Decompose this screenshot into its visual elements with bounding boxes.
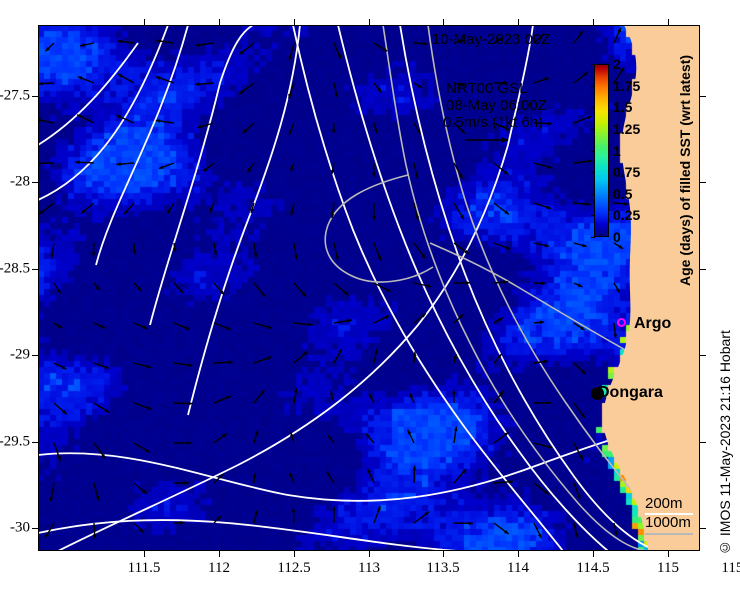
current-vector-arrow bbox=[334, 349, 342, 363]
current-vector-arrow bbox=[454, 243, 469, 254]
current-vector-arrow bbox=[250, 203, 254, 213]
y-axis-label: -28.5 bbox=[0, 261, 30, 278]
product-name: NRT00 GSL bbox=[446, 80, 527, 97]
colorbar-tick bbox=[591, 237, 595, 238]
x-axis-tick-top bbox=[443, 19, 444, 25]
current-vector-arrow bbox=[214, 396, 231, 403]
current-vector-arrow bbox=[174, 363, 192, 367]
colorbar-tick bbox=[591, 215, 595, 216]
current-vector-arrow bbox=[454, 427, 458, 443]
current-vector-arrow bbox=[124, 203, 134, 214]
current-vector-arrow bbox=[116, 162, 134, 166]
current-vector-arrow bbox=[574, 363, 586, 374]
current-vector-arrow bbox=[94, 483, 99, 500]
current-vector-arrow bbox=[156, 39, 174, 43]
current-vector-arrow bbox=[574, 483, 580, 500]
current-vector-arrow bbox=[174, 283, 183, 293]
current-vector-arrow bbox=[54, 283, 61, 293]
y-axis-tick bbox=[32, 182, 38, 183]
current-vector-arrow bbox=[614, 523, 618, 536]
current-vector-arrow bbox=[494, 243, 510, 249]
current-vector-arrow bbox=[332, 123, 336, 134]
current-vector-arrow bbox=[454, 163, 463, 179]
current-vector-arrow bbox=[38, 162, 54, 166]
current-vector-arrow bbox=[453, 354, 457, 363]
current-vector-arrow bbox=[410, 393, 414, 403]
current-vector-arrow bbox=[134, 523, 144, 532]
current-vector-arrow bbox=[494, 523, 509, 534]
current-vector-arrow bbox=[574, 403, 585, 418]
current-vector-arrow bbox=[289, 43, 295, 61]
current-vector-arrow bbox=[494, 280, 508, 284]
current-vector-arrow bbox=[134, 323, 148, 329]
current-vector-arrow bbox=[372, 203, 376, 220]
x-axis-tick bbox=[668, 551, 669, 557]
current-vector-arrow bbox=[330, 391, 334, 403]
current-vector-arrow bbox=[195, 82, 214, 86]
current-vector-arrow bbox=[174, 441, 192, 445]
current-vector-arrow bbox=[290, 473, 294, 483]
argo-marker-icon bbox=[617, 318, 626, 327]
current-vector-arrow bbox=[294, 388, 298, 403]
current-vector-arrow bbox=[374, 243, 381, 261]
depth-200-label: 200m bbox=[645, 494, 691, 513]
depth-1000-label: 1000m bbox=[645, 513, 691, 532]
x-axis-tick bbox=[294, 551, 295, 557]
current-vector-arrow bbox=[574, 283, 582, 287]
x-axis-tick bbox=[144, 551, 145, 557]
current-vector-arrow bbox=[413, 352, 417, 363]
current-vector-arrow bbox=[156, 76, 174, 83]
x-axis-label: 113.5 bbox=[426, 560, 459, 577]
current-vector-arrow bbox=[92, 243, 96, 257]
current-vector-arrow bbox=[494, 203, 509, 215]
current-vector-arrow bbox=[414, 512, 429, 523]
current-vector-arrow bbox=[94, 363, 109, 369]
current-vector-arrow bbox=[39, 203, 54, 214]
colorbar-tick bbox=[591, 172, 595, 173]
current-vector-arrow bbox=[159, 163, 174, 169]
colorbar-tick-label: 1.5 bbox=[613, 99, 632, 115]
current-vector-arrow bbox=[494, 480, 513, 484]
current-vector-arrow bbox=[81, 203, 94, 214]
current-vector-arrow bbox=[39, 82, 55, 86]
current-vector-arrow bbox=[210, 203, 214, 212]
current-vector-arrow bbox=[454, 203, 464, 219]
current-vector-arrow bbox=[414, 123, 420, 134]
current-vector-arrow bbox=[534, 243, 549, 247]
colorbar-tick bbox=[591, 64, 595, 65]
current-vector-arrow bbox=[254, 323, 272, 329]
current-vector-arrow bbox=[253, 474, 257, 484]
current-vector-arrow bbox=[54, 403, 67, 414]
current-vector-arrow bbox=[294, 323, 313, 327]
x-axis-label: 113 bbox=[358, 560, 380, 577]
current-vector-arrow bbox=[574, 116, 592, 123]
current-vector-arrow bbox=[243, 123, 254, 133]
current-vector-arrow bbox=[534, 203, 551, 209]
x-axis-label: 112 bbox=[208, 560, 230, 577]
current-vector-arrow bbox=[408, 430, 414, 443]
y-axis-tick bbox=[32, 355, 38, 356]
y-axis-tick-right bbox=[700, 355, 706, 356]
current-vector-arrow bbox=[574, 72, 588, 83]
x-axis-tick-top bbox=[369, 19, 370, 25]
current-vector-arrow bbox=[290, 432, 294, 443]
current-vector-arrow bbox=[50, 243, 54, 259]
sst-age-map-figure: 10-May-2023 00Z NRT00 GSL 08-May 06:00Z … bbox=[0, 0, 740, 592]
current-vector-arrow bbox=[614, 283, 620, 293]
current-vector-arrow bbox=[374, 283, 391, 292]
current-vector-arrow bbox=[195, 43, 214, 47]
colorbar-tick-label: 2 bbox=[613, 56, 621, 72]
y-axis-label: -29 bbox=[10, 347, 30, 364]
product-time: 08-May 06:00Z bbox=[446, 97, 547, 114]
y-axis-label: -30 bbox=[10, 520, 30, 537]
current-vector-arrow bbox=[117, 115, 134, 123]
current-vector-arrow bbox=[214, 323, 231, 330]
colorbar-tick bbox=[591, 129, 595, 130]
current-vector-arrow bbox=[46, 43, 55, 51]
current-vector-arrow bbox=[334, 43, 341, 59]
current-vector-arrow bbox=[494, 391, 504, 403]
y-axis-tick bbox=[32, 442, 38, 443]
current-vector-arrow bbox=[214, 516, 221, 523]
y-axis-label: -29.5 bbox=[0, 434, 30, 451]
x-axis-tick-top bbox=[593, 19, 594, 25]
x-axis-tick-top bbox=[294, 19, 295, 25]
y-axis-label: -28 bbox=[10, 174, 30, 191]
current-vector-arrow bbox=[331, 203, 335, 218]
current-vector-arrow bbox=[334, 243, 339, 261]
colorbar-tick-label: 0.5 bbox=[613, 186, 632, 202]
current-vector-arrow bbox=[214, 434, 227, 443]
current-vector-arrow bbox=[247, 163, 254, 173]
current-vector-arrow bbox=[534, 163, 552, 169]
x-axis-tick bbox=[219, 551, 220, 557]
current-vector-arrow bbox=[614, 28, 621, 43]
current-vector-arrow bbox=[414, 203, 419, 221]
current-vector-arrow bbox=[334, 319, 352, 323]
current-vector-arrow bbox=[254, 357, 272, 364]
current-vector-arrow bbox=[294, 283, 306, 297]
current-vector-arrow bbox=[368, 469, 374, 483]
current-vector-arrow bbox=[94, 443, 105, 458]
current-vector-arrow bbox=[289, 123, 294, 135]
current-vector-arrow bbox=[413, 466, 417, 483]
current-vector-arrow bbox=[173, 243, 177, 252]
current-vector-arrow bbox=[454, 521, 473, 525]
current-vector-arrow bbox=[254, 390, 265, 403]
copyright-text: © IMOS 11-May-2023 21:16 Hobart bbox=[716, 296, 734, 556]
colorbar-title: Age (days) of filled SST (wrt latest) bbox=[675, 40, 695, 300]
current-vector-arrow bbox=[54, 323, 62, 328]
current-vector-arrow bbox=[198, 123, 215, 128]
current-vector-arrow bbox=[534, 401, 551, 405]
current-vector-arrow bbox=[534, 483, 549, 494]
current-vector-arrow bbox=[214, 360, 233, 364]
colorbar-tick-label: 1.25 bbox=[613, 121, 640, 137]
current-vector-arrow bbox=[534, 321, 544, 325]
current-vector-arrow bbox=[291, 163, 295, 171]
current-vector-arrow bbox=[534, 282, 546, 286]
current-vector-arrow bbox=[372, 163, 376, 177]
current-vector-arrow bbox=[574, 523, 578, 538]
current-vector-arrow bbox=[374, 83, 382, 92]
current-vector-arrow bbox=[414, 83, 422, 88]
current-vector-arrow bbox=[574, 443, 583, 460]
current-vector-arrow bbox=[288, 83, 294, 99]
colorbar-tick bbox=[591, 86, 595, 87]
current-vector-arrow bbox=[254, 283, 265, 297]
current-vector-arrow bbox=[174, 481, 189, 485]
current-vector-arrow bbox=[334, 83, 338, 97]
x-axis-label: 115.5 bbox=[721, 560, 740, 577]
x-axis-label: 114 bbox=[507, 560, 529, 577]
y-axis-tick bbox=[32, 528, 38, 529]
current-vector-arrow bbox=[370, 394, 375, 403]
current-vector-arrow bbox=[327, 472, 334, 483]
current-vector-arrow bbox=[534, 523, 542, 538]
y-axis-tick-right bbox=[700, 182, 706, 183]
x-axis-label: 115 bbox=[657, 560, 679, 577]
current-vector-arrow bbox=[614, 202, 629, 206]
current-vector-arrow bbox=[454, 314, 464, 323]
x-axis-tick bbox=[593, 551, 594, 557]
current-vector-arrow bbox=[75, 160, 94, 164]
current-vector-arrow bbox=[134, 443, 150, 452]
colorbar-tick-label: 1.75 bbox=[613, 78, 640, 94]
current-vector-arrow bbox=[54, 363, 66, 369]
y-axis-tick-right bbox=[700, 442, 706, 443]
current-vector-arrow bbox=[118, 74, 134, 83]
current-vector-arrow bbox=[254, 243, 258, 257]
current-vector-arrow bbox=[118, 40, 134, 44]
current-vector-arrow bbox=[328, 435, 334, 443]
current-vector-arrow bbox=[574, 31, 583, 43]
current-vector-arrow bbox=[294, 243, 298, 259]
current-vector-arrow bbox=[214, 243, 218, 255]
current-vector-arrow bbox=[494, 318, 503, 324]
x-axis-tick bbox=[443, 551, 444, 557]
current-vector-arrow bbox=[174, 521, 185, 525]
current-vector-arrow bbox=[54, 443, 61, 461]
current-vector-arrow bbox=[80, 43, 94, 47]
current-vector-arrow bbox=[534, 77, 549, 83]
current-vector-arrow bbox=[156, 119, 174, 123]
reference-arrow-icon bbox=[463, 133, 513, 147]
current-vector-arrow bbox=[134, 403, 152, 410]
current-vector-arrow bbox=[334, 283, 349, 295]
current-vector-arrow bbox=[574, 159, 592, 163]
current-vector-arrow bbox=[38, 118, 54, 123]
current-vector-arrow bbox=[534, 360, 548, 364]
colorbar-tick bbox=[591, 194, 595, 195]
vector-scale-label: 0.5m/s (1kt 6h) bbox=[443, 114, 543, 131]
current-vector-arrow bbox=[454, 281, 470, 285]
current-vector-arrow bbox=[494, 354, 502, 363]
current-vector-arrow bbox=[613, 323, 617, 338]
colorbar-tick-label: 1 bbox=[613, 143, 621, 159]
current-vector-arrow bbox=[366, 434, 374, 443]
current-vector-arrow bbox=[292, 508, 296, 523]
x-axis-label: 111.5 bbox=[128, 560, 161, 577]
current-vector-arrow bbox=[50, 483, 55, 502]
x-axis-tick-top bbox=[518, 19, 519, 25]
current-vector-arrow bbox=[134, 283, 141, 291]
current-vector-arrow bbox=[414, 314, 426, 324]
colorbar-tick-label: 0.75 bbox=[613, 164, 640, 180]
colorbar-tick bbox=[591, 151, 595, 152]
current-vector-arrow bbox=[203, 163, 214, 172]
current-vector-arrow bbox=[494, 432, 509, 443]
current-vector-arrow bbox=[574, 202, 591, 206]
y-axis-tick-right bbox=[700, 528, 706, 529]
x-axis-tick-top bbox=[219, 19, 220, 25]
current-vector-arrow bbox=[374, 43, 387, 51]
current-vector-arrow bbox=[94, 323, 105, 328]
current-vector-arrow bbox=[574, 243, 587, 247]
current-vector-arrow bbox=[414, 42, 427, 46]
x-axis-tick-top bbox=[144, 19, 145, 25]
x-axis-tick bbox=[518, 551, 519, 557]
current-vector-arrow bbox=[214, 283, 224, 295]
current-vector-arrow bbox=[452, 390, 456, 403]
y-axis-tick-right bbox=[700, 96, 706, 97]
current-vector-arrow bbox=[374, 316, 389, 324]
colorbar-tick-label: 0 bbox=[613, 229, 621, 245]
current-vector-arrow bbox=[133, 243, 137, 254]
current-vector-arrow bbox=[77, 115, 94, 123]
current-vector-arrow bbox=[254, 511, 258, 523]
current-vector-arrow bbox=[374, 349, 378, 363]
y-axis-tick bbox=[32, 269, 38, 270]
current-vector-arrow bbox=[240, 83, 254, 94]
current-vector-arrow bbox=[374, 506, 381, 523]
current-vector-arrow bbox=[494, 163, 509, 175]
x-axis-tick-top bbox=[668, 19, 669, 25]
argo-legend-label: Argo bbox=[634, 315, 671, 333]
current-vector-arrow bbox=[239, 43, 254, 55]
current-vector-arrow bbox=[332, 506, 336, 523]
current-vector-arrow bbox=[294, 352, 308, 363]
current-vector-arrow bbox=[94, 283, 100, 291]
x-axis-tick bbox=[369, 551, 370, 557]
current-vector-arrow bbox=[254, 430, 258, 443]
current-vector-arrow bbox=[134, 363, 151, 368]
current-vector-arrow bbox=[454, 469, 466, 483]
current-vector-arrow bbox=[45, 523, 54, 538]
current-vector-arrow bbox=[290, 203, 294, 216]
current-vector-arrow bbox=[174, 402, 193, 406]
current-vector-arrow bbox=[374, 123, 378, 133]
current-vector-arrow bbox=[78, 76, 94, 83]
city-label: Dongara bbox=[598, 384, 663, 402]
current-vector-arrow bbox=[134, 483, 147, 494]
colorbar-tick bbox=[591, 107, 595, 108]
y-axis-tick-right bbox=[700, 269, 706, 270]
current-vector-arrow bbox=[574, 323, 585, 330]
current-vector-arrow bbox=[214, 475, 223, 484]
current-vector-arrow bbox=[167, 203, 174, 214]
current-vector-arrow bbox=[331, 163, 335, 174]
current-vector-arrow bbox=[414, 283, 432, 288]
current-vector-arrow bbox=[414, 243, 425, 258]
current-vector-arrow bbox=[94, 403, 110, 413]
depth-1000-line-sample bbox=[645, 533, 693, 535]
x-axis-label: 114.5 bbox=[576, 560, 609, 577]
colorbar-tick-label: 0.25 bbox=[613, 207, 640, 223]
colorbar-gradient[interactable] bbox=[594, 64, 609, 237]
y-axis-label: -27.5 bbox=[0, 88, 30, 105]
date-stamp: 10-May-2023 00Z bbox=[432, 31, 550, 48]
y-axis-tick bbox=[32, 96, 38, 97]
current-vector-arrow bbox=[534, 443, 552, 449]
x-axis-label: 112.5 bbox=[277, 560, 310, 577]
current-vector-arrow bbox=[414, 163, 418, 179]
current-vector-arrow bbox=[174, 323, 189, 330]
current-vector-arrow bbox=[93, 523, 97, 538]
depth-200-line-sample bbox=[645, 513, 693, 515]
